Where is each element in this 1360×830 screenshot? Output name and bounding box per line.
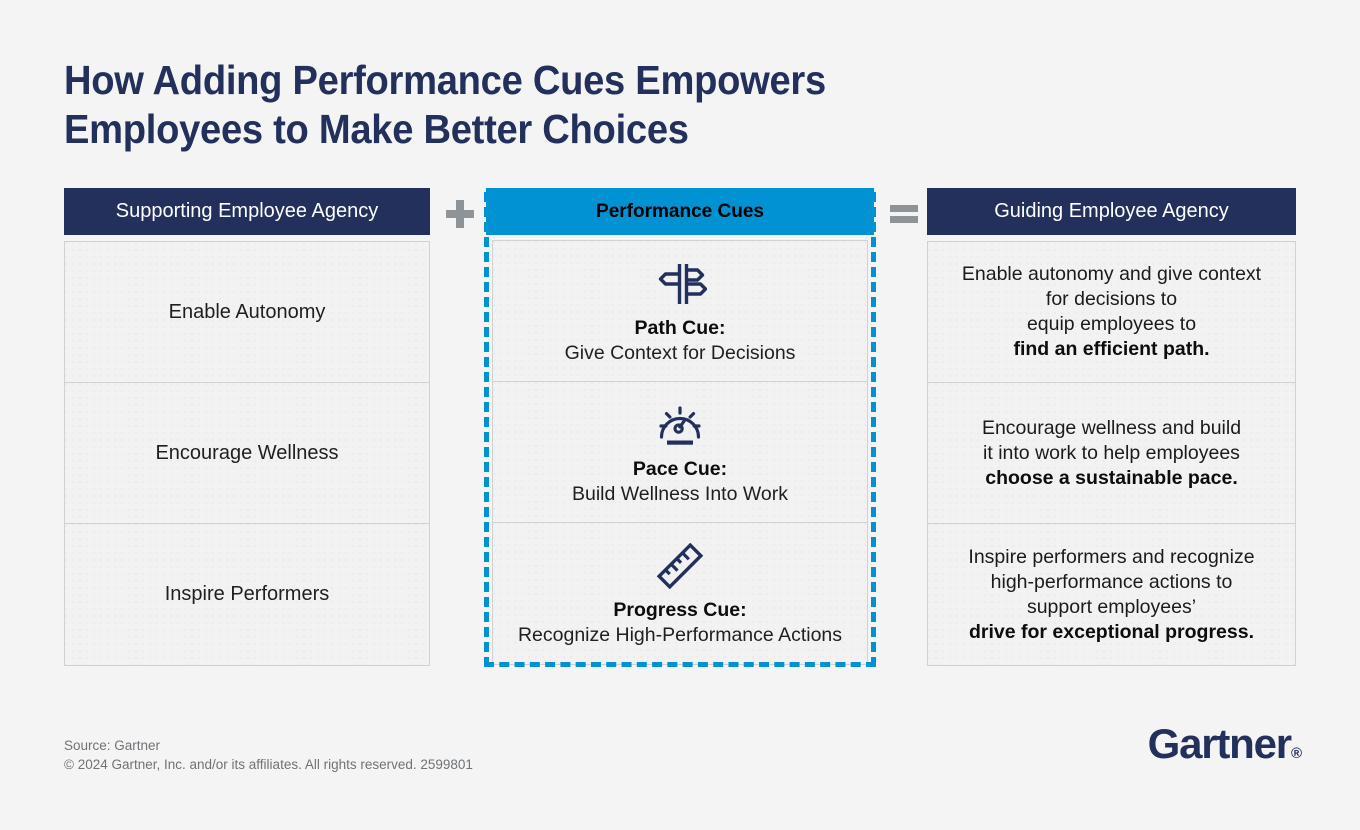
- column-performance-cues: Performance Cues Path Cue: Giv: [483, 188, 877, 665]
- left-cell-3[interactable]: Inspire Performers: [65, 524, 429, 665]
- right-cell-1-line-3: equip employees to: [1027, 312, 1196, 337]
- right-cell-1-emphasis: find an efficient path.: [1013, 337, 1209, 362]
- signpost-icon: [653, 261, 707, 307]
- column-header-left: Supporting Employee Agency: [64, 188, 430, 235]
- right-cell-3-emphasis: drive for exceptional progress.: [969, 620, 1254, 645]
- cue-title-progress: Progress Cue:: [613, 598, 746, 623]
- right-cell-3-line-3: support employees’: [1027, 595, 1196, 620]
- right-cell-2-line-2: it into work to help employees: [983, 441, 1240, 466]
- right-cell-3[interactable]: Inspire performers and recognize high-pe…: [928, 524, 1295, 665]
- middle-cell-list: Path Cue: Give Context for Decisions: [492, 240, 868, 665]
- right-cell-2[interactable]: Encourage wellness and build it into wor…: [928, 383, 1295, 524]
- column-guiding-employee-agency: Guiding Employee Agency Enable autonomy …: [927, 188, 1296, 666]
- column-supporting-employee-agency: Supporting Employee Agency Enable Autono…: [64, 188, 430, 666]
- right-cell-2-line-1: Encourage wellness and build: [982, 416, 1241, 441]
- gartner-logo-text: Gartner: [1148, 720, 1291, 767]
- speedometer-icon: [655, 402, 705, 448]
- right-cell-1-line-2: for decisions to: [1046, 287, 1177, 312]
- left-cell-1-label: Enable Autonomy: [169, 301, 326, 324]
- left-cell-3-label: Inspire Performers: [165, 583, 330, 606]
- right-cell-2-emphasis: choose a sustainable pace.: [985, 466, 1238, 491]
- cue-cell-progress[interactable]: Progress Cue: Recognize High-Performance…: [493, 523, 867, 664]
- cue-sub-progress: Recognize High-Performance Actions: [518, 623, 842, 648]
- left-cell-2-label: Encourage Wellness: [155, 442, 338, 465]
- cue-sub-path: Give Context for Decisions: [565, 341, 796, 366]
- registered-trademark-icon: ®: [1291, 745, 1302, 762]
- right-cell-list: Enable autonomy and give context for dec…: [927, 241, 1296, 666]
- cue-cell-path[interactable]: Path Cue: Give Context for Decisions: [493, 241, 867, 382]
- diagram: Supporting Employee Agency Enable Autono…: [64, 188, 1296, 668]
- cue-cell-pace[interactable]: Pace Cue: Build Wellness Into Work: [493, 382, 867, 523]
- right-cell-3-line-2: high-performance actions to: [991, 570, 1233, 595]
- left-cell-1[interactable]: Enable Autonomy: [65, 242, 429, 383]
- cue-title-pace: Pace Cue:: [633, 457, 727, 482]
- cue-title-path: Path Cue:: [634, 316, 725, 341]
- plus-operator-icon: [438, 194, 482, 234]
- cue-sub-pace: Build Wellness Into Work: [572, 482, 788, 507]
- right-cell-3-line-1: Inspire performers and recognize: [968, 545, 1254, 570]
- left-cell-2[interactable]: Encourage Wellness: [65, 383, 429, 524]
- right-cell-1-line-1: Enable autonomy and give context: [962, 262, 1261, 287]
- footer-copyright: © 2024 Gartner, Inc. and/or its affiliat…: [64, 755, 473, 774]
- footer: Source: Gartner © 2024 Gartner, Inc. and…: [64, 736, 473, 774]
- left-cell-list: Enable Autonomy Encourage Wellness Inspi…: [64, 241, 430, 666]
- column-header-middle: Performance Cues: [486, 188, 874, 235]
- ruler-icon: [655, 543, 705, 589]
- equals-operator-icon: [882, 194, 926, 234]
- gartner-logo: Gartner®: [1148, 720, 1302, 768]
- right-cell-1[interactable]: Enable autonomy and give context for dec…: [928, 242, 1295, 383]
- footer-source: Source: Gartner: [64, 736, 473, 755]
- column-header-right: Guiding Employee Agency: [927, 188, 1296, 235]
- page-title: How Adding Performance Cues Empowers Emp…: [64, 56, 994, 154]
